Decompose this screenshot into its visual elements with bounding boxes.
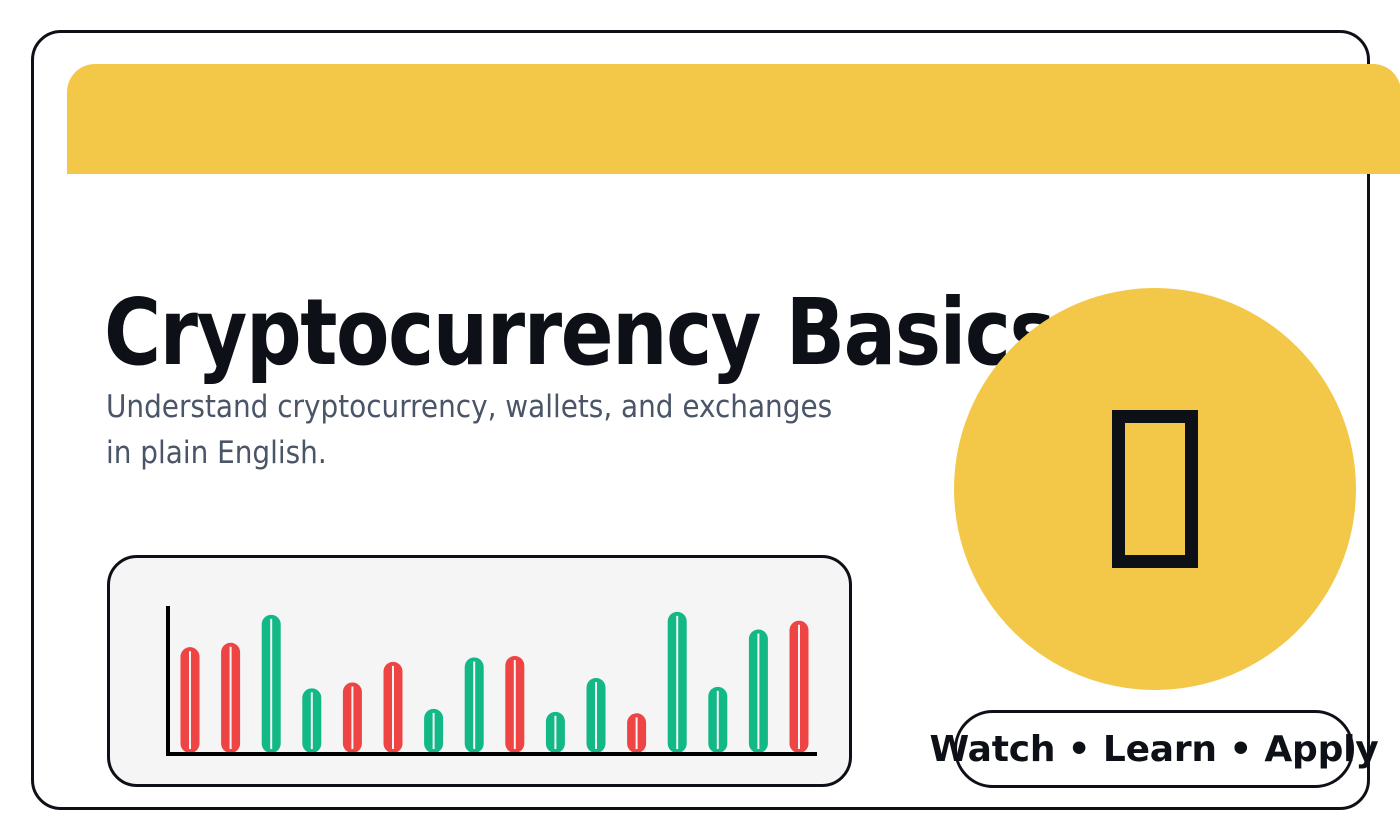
course-icon-circle [954, 288, 1356, 690]
candlestick-chart [110, 558, 852, 787]
header-bar [67, 64, 1400, 174]
page-subtitle: Understand cryptocurrency, wallets, and … [106, 384, 866, 476]
hero-card: Crypto School Cryptocurrency Basics Unde… [31, 30, 1370, 810]
chart-bars-group [181, 612, 809, 753]
missing-glyph-tofu-icon [1112, 410, 1198, 568]
tofu-box-shape [1112, 410, 1198, 568]
cta-pill-badge[interactable] [954, 710, 1354, 788]
candlestick-chart-panel [107, 555, 852, 787]
page-title: Cryptocurrency Basics [104, 283, 1054, 383]
